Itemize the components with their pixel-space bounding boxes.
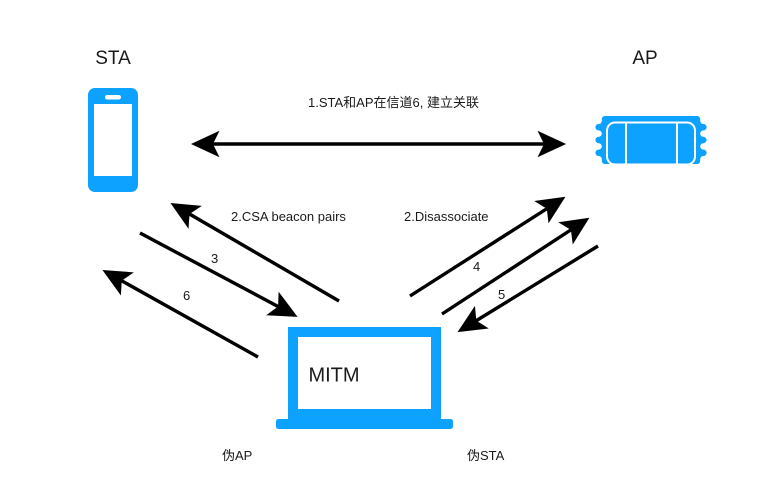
node-label-ap: AP [610, 48, 680, 70]
node-label-mitm: MITM [308, 365, 359, 388]
smartphone-icon [88, 88, 138, 192]
role-label-fake-sta: 伪STA [467, 445, 504, 464]
edge-label-csa: 2.CSA beacon pairs [231, 209, 346, 224]
edge-label-step4: 4 [473, 259, 480, 274]
laptop-icon [276, 327, 453, 429]
edge-label-assoc: 1.STA和AP在信道6, 建立关联 [308, 92, 479, 111]
node-label-sta: STA [78, 48, 148, 70]
edge-label-step6: 6 [183, 288, 190, 303]
diagram-graphics [0, 0, 778, 478]
role-label-fake-ap: 伪AP [222, 445, 252, 464]
access-point-icon [595, 116, 706, 165]
diagram-canvas: STA AP MITM 1.STA和AP在信道6, 建立关联 2.CSA bea… [0, 0, 778, 478]
edge-label-disassociate: 2.Disassociate [404, 209, 489, 224]
edge-label-step5: 5 [498, 287, 505, 302]
edge-label-step3: 3 [211, 251, 218, 266]
